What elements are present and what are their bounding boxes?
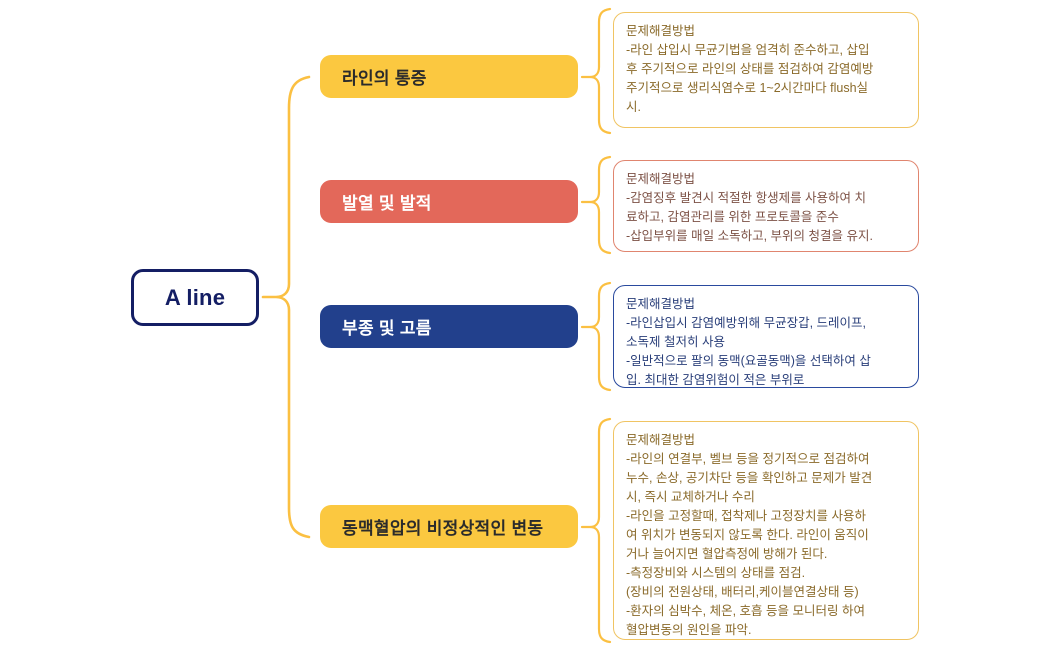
detail-box-4-line-8: (장비의 전원상태, 배터리,케이블연결상태 등) [626, 583, 906, 602]
detail-box-2-title: 문제해결방법 [626, 170, 906, 189]
detail-box-3-line-2: 소독제 철저히 사용 [626, 333, 906, 352]
branch-node-3-label: 부종 및 고름 [342, 314, 432, 339]
detail-box-3-line-1: -라인삽입시 감염예방위해 무균장갑, 드레이프, [626, 314, 906, 333]
branch-node-1-label: 라인의 통증 [342, 64, 427, 89]
main-brace [263, 77, 309, 537]
detail-box-3: 문제해결방법 -라인삽입시 감염예방위해 무균장갑, 드레이프, 소독제 철저히… [613, 285, 919, 388]
detail-box-1: 문제해결방법 -라인 삽입시 무균기법을 엄격히 준수하고, 삽입 후 주기적으… [613, 12, 919, 128]
branch-brace-3 [582, 419, 610, 642]
mindmap-canvas: A line 라인의 통증 발열 및 발적 부종 및 고름 동맥혈압의 비정상적… [0, 0, 1049, 650]
branch-node-2[interactable]: 발열 및 발적 [320, 180, 578, 223]
root-node-label: A line [165, 285, 225, 311]
detail-box-1-line-2: 후 주기적으로 라인의 상태를 점검하여 감염예방 [626, 60, 906, 79]
detail-box-2-line-2: 료하고, 감염관리를 위한 프로토콜을 준수 [626, 208, 906, 227]
branch-node-3[interactable]: 부종 및 고름 [320, 305, 578, 348]
detail-box-1-line-1: -라인 삽입시 무균기법을 엄격히 준수하고, 삽입 [626, 41, 906, 60]
detail-box-3-line-3: -일반적으로 팔의 동맥(요골동맥)을 선택하여 삽 [626, 352, 906, 371]
detail-box-3-line-4: 입. 최대한 감염위험이 적은 부위로 [626, 371, 906, 390]
detail-box-4-line-3: 시, 즉시 교체하거나 수리 [626, 488, 906, 507]
detail-box-4-line-1: -라인의 연결부, 벨브 등을 정기적으로 점검하여 [626, 450, 906, 469]
detail-box-2-line-1: -감염징후 발견시 적절한 항생제를 사용하여 치 [626, 189, 906, 208]
detail-box-4-line-7: -측정장비와 시스템의 상태를 점검. [626, 564, 906, 583]
branch-node-4-label: 동맥혈압의 비정상적인 변동 [342, 514, 543, 539]
detail-box-4-line-6: 거나 늘어지면 혈압측정에 방해가 된다. [626, 545, 906, 564]
branch-node-2-label: 발열 및 발적 [342, 189, 432, 214]
detail-box-4-title: 문제해결방법 [626, 431, 906, 450]
detail-box-4-line-5: 여 위치가 변동되지 않도록 한다. 라인이 움직이 [626, 526, 906, 545]
branch-node-4[interactable]: 동맥혈압의 비정상적인 변동 [320, 505, 578, 548]
detail-box-2: 문제해결방법 -감염징후 발견시 적절한 항생제를 사용하여 치 료하고, 감염… [613, 160, 919, 252]
detail-box-4-line-9: -환자의 심박수, 체온, 호흡 등을 모니터링 하여 [626, 602, 906, 621]
detail-box-1-title: 문제해결방법 [626, 22, 906, 41]
branch-node-1[interactable]: 라인의 통증 [320, 55, 578, 98]
detail-box-4-line-4: -라인을 고정할때, 접착제나 고정장치를 사용하 [626, 507, 906, 526]
detail-box-4-line-10: 혈압변동의 원인을 파악. [626, 621, 906, 640]
detail-box-4-line-2: 누수, 손상, 공기차단 등을 확인하고 문제가 발견 [626, 469, 906, 488]
branch-brace-1 [582, 157, 610, 253]
detail-box-1-line-4: 시. [626, 98, 906, 117]
detail-box-4: 문제해결방법 -라인의 연결부, 벨브 등을 정기적으로 점검하여 누수, 손상… [613, 421, 919, 640]
detail-box-3-title: 문제해결방법 [626, 295, 906, 314]
branch-brace-0 [582, 9, 610, 133]
root-node[interactable]: A line [131, 269, 259, 326]
detail-box-1-line-3: 주기적으로 생리식염수로 1~2시간마다 flush실 [626, 79, 906, 98]
detail-box-2-line-3: -삽입부위를 매일 소독하고, 부위의 청결을 유지. [626, 227, 906, 246]
branch-brace-2 [582, 283, 610, 390]
